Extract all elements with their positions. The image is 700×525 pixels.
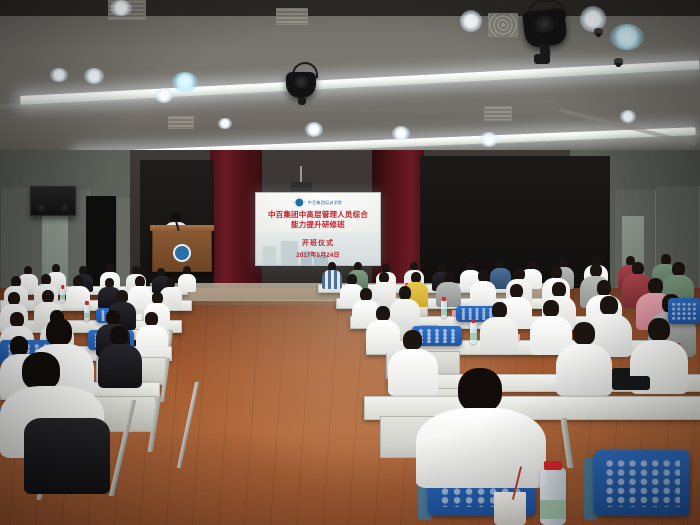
screen-title-line1: 中百集团中高层管理人员综合: [256, 210, 380, 220]
screen-organization-name: 中百集团培训学院: [308, 200, 342, 206]
screen-subtitle: 开班仪式: [256, 238, 380, 248]
projection-screen: 中百集团培训学院 中百集团中高层管理人员综合 能力提升研修班 开班仪式 2017…: [255, 192, 381, 266]
attendee-head: [543, 300, 559, 317]
hvac-vent-icon: [488, 13, 518, 37]
downlight-icon: [392, 126, 410, 141]
attendee: [98, 326, 142, 384]
conference-hall-photo: 中百集团培训学院 中百集团中高层管理人员综合 能力提升研修班 开班仪式 2017…: [0, 0, 700, 525]
bottle-label: [540, 500, 566, 519]
projector-icon: [290, 182, 312, 191]
attendee-foreground: [416, 368, 546, 480]
surveillance-camera-icon: [594, 28, 603, 35]
speaker-cone: [531, 15, 559, 35]
bottle-cap: [442, 297, 446, 301]
attendee: [480, 302, 518, 350]
screen-title-line2: 能力提升研修班: [256, 220, 380, 230]
hvac-vent-icon: [168, 116, 194, 129]
surveillance-camera-icon: [614, 58, 623, 65]
attendee-head: [145, 312, 158, 326]
attendee-head: [458, 368, 502, 412]
attendee-torso: [98, 344, 142, 388]
attendee-foreground: [24, 388, 110, 488]
downlight-icon: [155, 88, 173, 103]
chair-back-perforations: [604, 459, 681, 507]
bottle-cap: [544, 461, 562, 470]
water-bottle: [540, 468, 566, 525]
downlight-icon: [460, 10, 482, 32]
hvac-vent-icon: [276, 8, 308, 25]
downlight-icon: [218, 118, 232, 129]
ceiling-speaker-stem: [298, 98, 306, 105]
attendee-head: [10, 312, 24, 327]
downlight-icon: [50, 68, 68, 82]
attendee-head: [403, 330, 422, 350]
bottle-cap: [61, 285, 65, 289]
attendee-head: [46, 318, 72, 346]
attendee-head: [399, 286, 411, 300]
attendee-legs: [24, 418, 110, 494]
downlight-icon: [110, 0, 132, 16]
attendee-torso: [556, 344, 612, 396]
speaker-cone: [60, 203, 69, 212]
attendee: [322, 262, 342, 288]
downlight-icon: [305, 122, 323, 137]
speaker-cone: [292, 76, 311, 88]
hvac-vent-icon: [484, 106, 512, 121]
mobile-phone: [612, 376, 650, 390]
water-bottle: [441, 300, 447, 318]
attendee-head: [110, 326, 128, 345]
bottle-cap: [471, 319, 476, 323]
wall-speaker-icon: [30, 186, 76, 216]
attendee-torso: [436, 282, 461, 307]
attendee-head: [552, 282, 566, 297]
attendee-torso: [480, 317, 518, 353]
lectern-emblem-icon: [173, 244, 191, 262]
ceiling-speaker-base: [534, 54, 550, 64]
attendee-head: [510, 284, 523, 298]
screen-date: 2017年5月24日: [256, 250, 380, 259]
attendee-head: [573, 322, 595, 345]
attendee: [436, 272, 461, 306]
downlight-icon: [172, 72, 198, 92]
screen-logo: 中百集团培训学院: [294, 197, 342, 208]
attendee-head: [648, 278, 663, 294]
attendee-torso: [416, 408, 546, 488]
attendee-head: [376, 306, 390, 321]
downlight-icon: [84, 68, 104, 84]
water-bottle: [470, 322, 477, 344]
bottle-cap: [85, 301, 89, 305]
attendee-head: [672, 262, 685, 276]
downlight-icon: [610, 24, 644, 50]
downlight-icon: [480, 132, 498, 147]
screen-title: 中百集团中高层管理人员综合 能力提升研修班: [256, 210, 380, 230]
attendee: [556, 322, 612, 392]
attendee-head: [106, 310, 120, 325]
attendee-head: [22, 352, 60, 390]
attendee-head: [648, 318, 670, 341]
attendee-torso: [322, 270, 342, 289]
ceiling-speaker-icon: [286, 72, 316, 98]
attendee-head: [600, 296, 618, 315]
attendee-head: [492, 302, 507, 318]
downlight-icon: [620, 110, 636, 123]
chair: [594, 450, 690, 516]
paper-cup: [494, 492, 526, 525]
attendee-head: [597, 280, 611, 296]
lectern-top: [150, 225, 214, 231]
bottle-label: [470, 333, 477, 340]
speaker-cone: [37, 203, 46, 212]
bottle-label: [441, 309, 447, 314]
organization-emblem-icon: [294, 197, 305, 208]
attendee: [470, 270, 496, 306]
